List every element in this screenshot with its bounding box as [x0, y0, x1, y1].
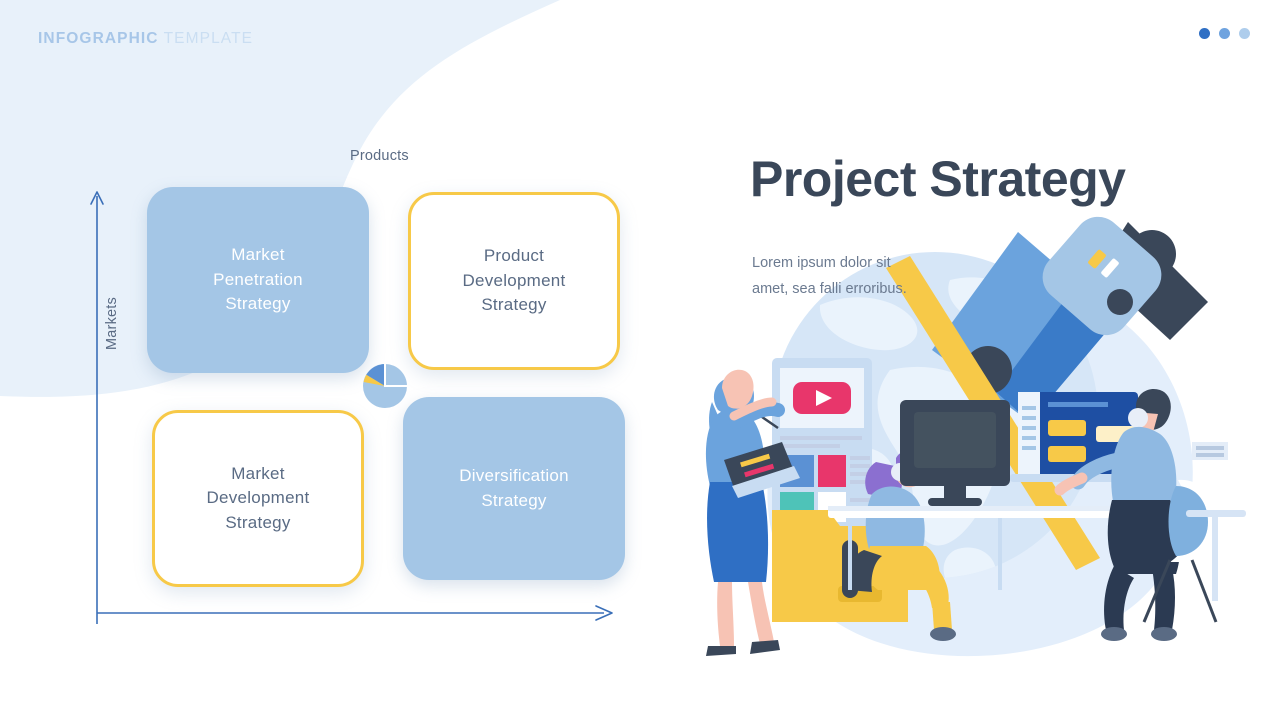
- dot-1-icon[interactable]: [1199, 28, 1210, 39]
- page-title: Project Strategy: [750, 150, 1125, 208]
- brand-title-light: TEMPLATE: [164, 30, 253, 47]
- card-diversification-label: Diversification Strategy: [459, 464, 569, 513]
- brand-title-bold: INFOGRAPHIC: [38, 30, 159, 47]
- dot-3-icon[interactable]: [1239, 28, 1250, 39]
- card-market-development-strategy[interactable]: Market Development Strategy: [152, 410, 364, 587]
- content-panel: Project Strategy Lorem ipsum dolor sit a…: [750, 0, 1280, 720]
- card-market-development-label: Market Development Strategy: [207, 462, 310, 535]
- strategy-matrix: Products Markets Market Penetration Stra…: [0, 0, 660, 720]
- card-product-development-label: Product Development Strategy: [463, 244, 566, 317]
- brand-title: INFOGRAPHICTEMPLATE: [38, 30, 253, 48]
- card-market-penetration-label: Market Penetration Strategy: [213, 243, 303, 316]
- body-text-line2: amet, sea falli erroribus.: [752, 281, 907, 297]
- body-text-line1: Lorem ipsum dolor sit: [752, 255, 891, 271]
- slide-pagination-dots[interactable]: [1199, 28, 1250, 39]
- pie-chart-icon: [360, 361, 410, 411]
- dot-2-icon[interactable]: [1219, 28, 1230, 39]
- card-diversification-strategy[interactable]: Diversification Strategy: [403, 397, 625, 580]
- card-product-development-strategy[interactable]: Product Development Strategy: [408, 192, 620, 370]
- slide-canvas: INFOGRAPHICTEMPLATE Products Markets Mar…: [0, 0, 1280, 720]
- body-text: Lorem ipsum dolor sit amet, sea falli er…: [752, 250, 1002, 303]
- card-market-penetration-strategy[interactable]: Market Penetration Strategy: [147, 187, 369, 373]
- x-axis-label: Products: [350, 148, 409, 164]
